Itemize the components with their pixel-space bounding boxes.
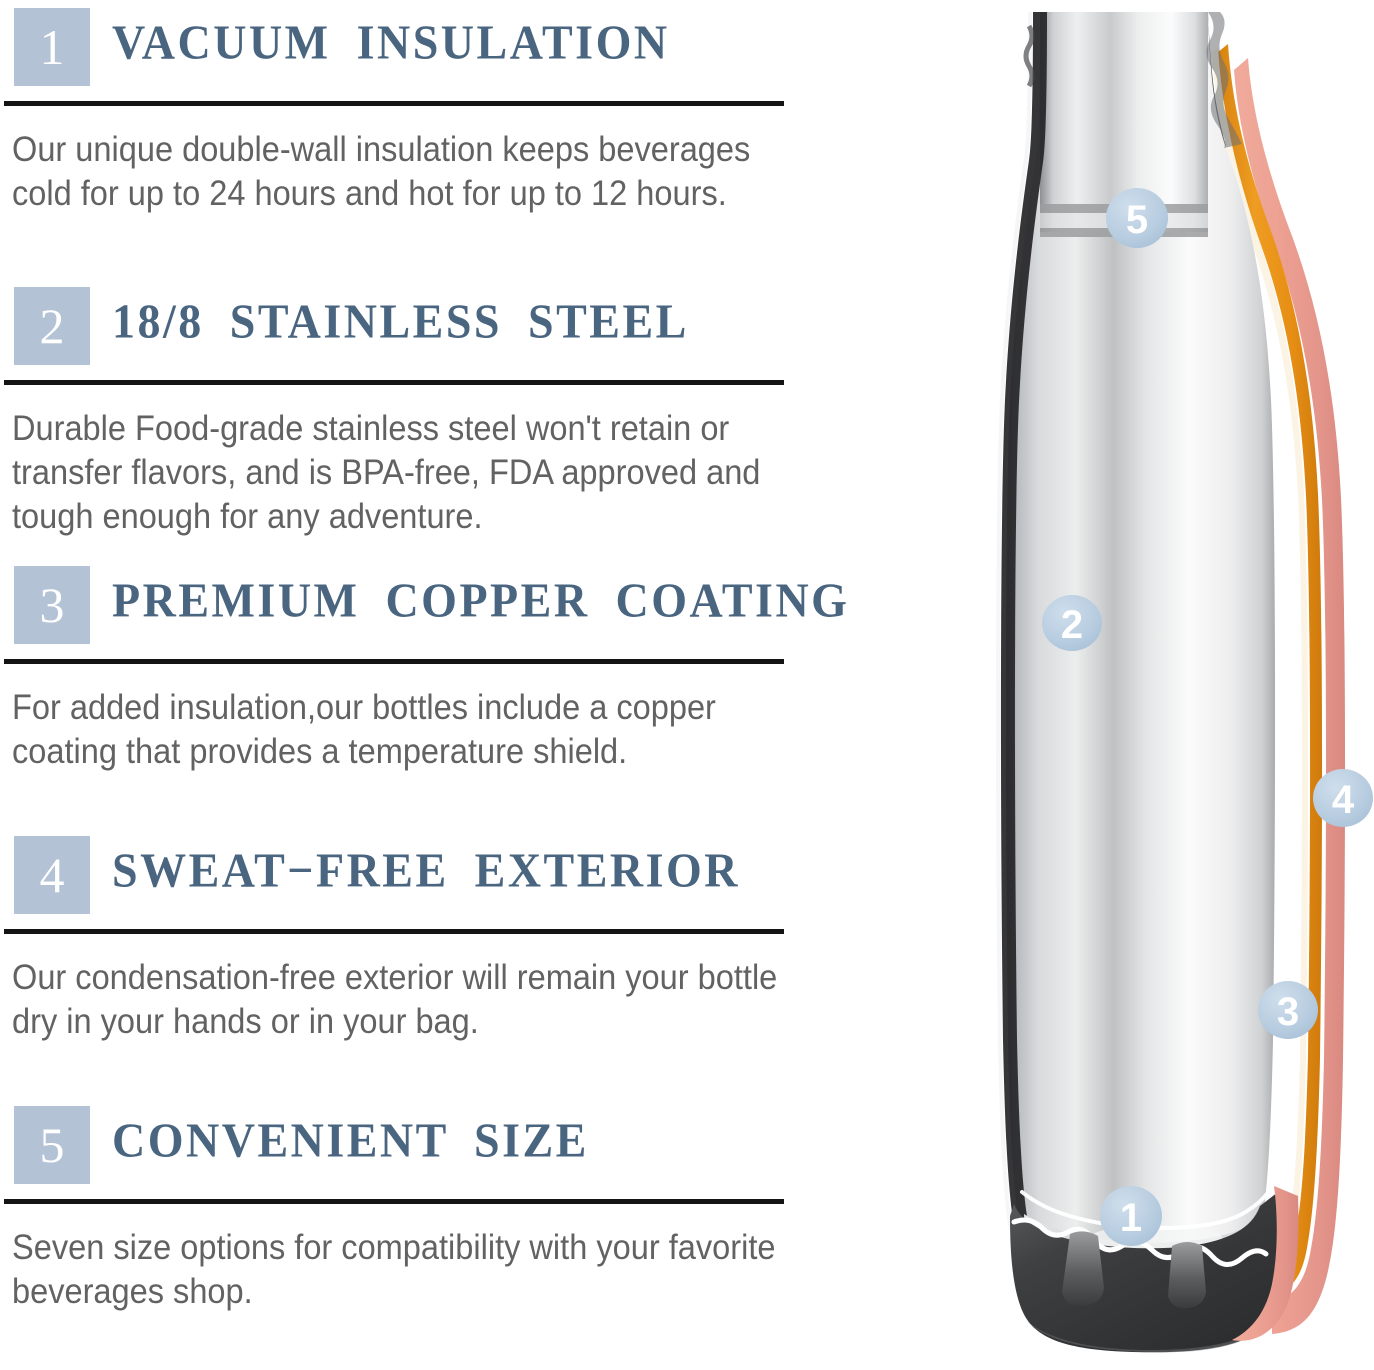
feature-divider: [4, 659, 784, 664]
feature-title: PREMIUM COPPER COATING: [112, 572, 849, 628]
feature-title: VACUUM INSULATION: [112, 14, 670, 70]
feature-number-badge: 5: [14, 1106, 90, 1184]
feature-item-1: 1 VACUUM INSULATION Our unique double-wa…: [0, 0, 880, 86]
feature-header: 3 PREMIUM COPPER COATING: [0, 558, 880, 644]
bottle-cutaway-illustration: 2 5 4 3 1: [900, 0, 1374, 1370]
feature-header: 1 VACUUM INSULATION: [0, 0, 880, 86]
feature-item-5: 5 CONVENIENT SIZE Seven size options for…: [0, 1098, 880, 1184]
feature-header: 2 18/8 STAINLESS STEEL: [0, 279, 880, 365]
callout-label-1: 1: [1120, 1196, 1142, 1240]
callout-badge-3: 3: [1258, 981, 1318, 1039]
feature-number-badge: 2: [14, 287, 90, 365]
bottle-base-nub-right: [1168, 1242, 1206, 1308]
feature-description: Durable Food-grade stainless steel won't…: [12, 407, 784, 539]
callout-badge-4: 4: [1313, 769, 1373, 827]
feature-item-2: 2 18/8 STAINLESS STEEL Durable Food-grad…: [0, 279, 880, 365]
feature-description: Seven size options for compatibility wit…: [12, 1226, 784, 1314]
feature-list: 1 VACUUM INSULATION Our unique double-wa…: [0, 0, 880, 1370]
feature-header: 5 CONVENIENT SIZE: [0, 1098, 880, 1184]
feature-description: Our condensation-free exterior will rema…: [12, 956, 784, 1044]
callout-badge-1: 1: [1100, 1186, 1162, 1246]
callout-badge-5: 5: [1106, 188, 1168, 248]
callout-badge-2: 2: [1042, 595, 1102, 651]
callout-label-4: 4: [1332, 778, 1355, 822]
feature-title: CONVENIENT SIZE: [112, 1112, 589, 1168]
feature-divider: [4, 929, 784, 934]
feature-divider: [4, 1199, 784, 1204]
feature-title: 18/8 STAINLESS STEEL: [112, 293, 689, 349]
feature-number-badge: 3: [14, 566, 90, 644]
feature-header: 4 SWEAT−FREE EXTERIOR: [0, 828, 880, 914]
feature-divider: [4, 380, 784, 385]
callout-label-5: 5: [1126, 198, 1148, 242]
feature-number-badge: 1: [14, 8, 90, 86]
feature-item-4: 4 SWEAT−FREE EXTERIOR Our condensation-f…: [0, 828, 880, 914]
feature-divider: [4, 101, 784, 106]
callout-label-3: 3: [1277, 990, 1299, 1034]
feature-item-3: 3 PREMIUM COPPER COATING For added insul…: [0, 558, 880, 644]
feature-number-badge: 4: [14, 836, 90, 914]
callout-label-2: 2: [1061, 603, 1083, 647]
feature-description: For added insulation,our bottles include…: [12, 686, 784, 774]
feature-title: SWEAT−FREE EXTERIOR: [112, 842, 740, 898]
feature-description: Our unique double-wall insulation keeps …: [12, 128, 784, 216]
